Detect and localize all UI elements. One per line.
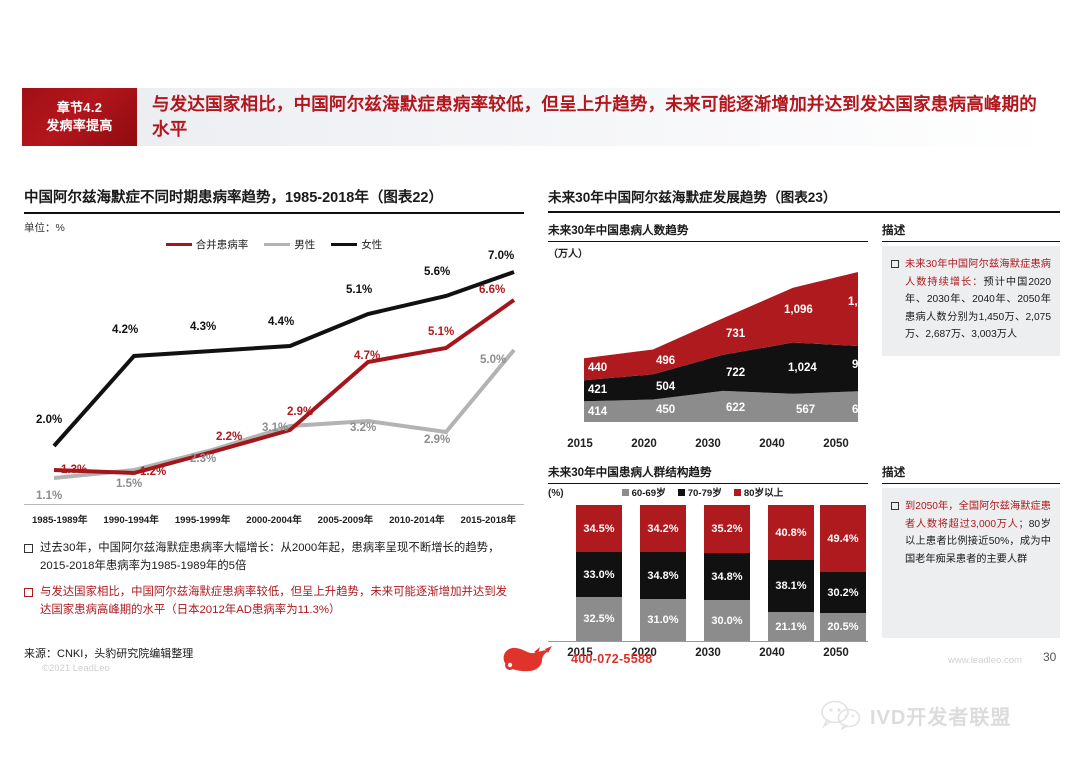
area-label-70-79-1: 504 xyxy=(656,381,675,393)
x-tick-4: 2005-2009年 xyxy=(310,512,381,526)
legend2-label-70-79: 70-79岁 xyxy=(688,485,722,499)
bar-seg-60-69-2015: 32.5% xyxy=(576,597,622,641)
bar-group-2030: 35.2% 34.8% 30.0% xyxy=(704,505,750,641)
bar-seg-70-79-2030: 34.8% xyxy=(704,553,750,600)
area-label-80plus-1: 496 xyxy=(656,355,675,367)
label-female-3: 4.4% xyxy=(268,316,294,328)
legend-label-male: 男性 xyxy=(294,237,315,252)
line-chart-x-axis: 1985-1989年 1990-1994年 1995-1999年 2000-20… xyxy=(24,504,524,526)
area-label-80plus-0: 440 xyxy=(588,362,607,374)
right-row-bottom: 未来30年中国患病人群结构趋势 (%) 60-69岁 70-79岁 xyxy=(548,464,1060,659)
stacked-bar-chart: 34.5% 33.0% 32.5% 34.2% 34.8% 31.0% 35.2… xyxy=(548,503,868,641)
bar-seg-60-69-2020: 31.0% xyxy=(640,599,686,641)
bar-group-2050: 49.4% 30.2% 20.5% xyxy=(820,505,866,641)
x-tick-3: 2000-2004年 xyxy=(238,512,309,526)
bullet-square-icon xyxy=(24,544,33,553)
legend-item-male: 男性 xyxy=(264,237,315,252)
line-chart-legend: 合并患病率 男性 女性 xyxy=(24,237,524,252)
area-label-70-79-3: 1,024 xyxy=(788,362,817,374)
watermark: IVD开发者联盟 xyxy=(820,700,1011,730)
area-chart-unit: （万人） xyxy=(548,245,868,260)
legend-swatch-female xyxy=(331,243,357,246)
description-box-1: 未来30年中国阿尔兹海默症患病人数持续增长：预计中国2020年、2030年、20… xyxy=(882,246,1060,356)
left-bullet-0: 过去30年，中国阿尔兹海默症患病率大幅增长：从2000年起，患病率呈现不断增长的… xyxy=(24,540,516,575)
slide-header: 章节4.2 发病率提高 与发达国家相比，中国阿尔兹海默症患病率较低，但呈上升趋势… xyxy=(22,88,1058,146)
bullet-square-icon xyxy=(891,260,899,268)
footer-website: www.leadleo.com xyxy=(948,655,1022,666)
bar-x-tick-2: 2030 xyxy=(676,647,740,659)
page-number: 30 xyxy=(1043,650,1056,664)
label-combined-5: 5.1% xyxy=(428,326,454,338)
area-label-60-69-3: 567 xyxy=(796,404,815,416)
label-female-6: 7.0% xyxy=(488,250,514,262)
footer-phone: 400-072-5588 xyxy=(571,652,652,666)
bar-x-tick-3: 2040 xyxy=(740,647,804,659)
left-chart-unit: 单位：% xyxy=(24,220,524,235)
copyright-text: ©2021 LeadLeo xyxy=(42,663,193,674)
x-tick-5: 2010-2014年 xyxy=(381,512,452,526)
description-heading-1: 描述 xyxy=(882,222,1060,242)
label-female-1: 4.2% xyxy=(112,324,138,336)
description-item-1: 未来30年中国阿尔兹海默症患病人数持续增长：预计中国2020年、2030年、20… xyxy=(891,256,1051,344)
watermark-text: IVD开发者联盟 xyxy=(870,701,1011,730)
page-title: 与发达国家相比，中国阿尔兹海默症患病率较低，但呈上升趋势，未来可能逐渐增加并达到… xyxy=(152,89,1054,145)
area-label-70-79-2: 722 xyxy=(726,367,745,379)
area-label-60-69-4: 614 xyxy=(852,404,871,416)
bar-group-2015: 34.5% 33.0% 32.5% xyxy=(576,505,622,641)
legend-item-female: 女性 xyxy=(331,237,382,252)
bar-seg-70-79-2040: 38.1% xyxy=(768,560,814,612)
legend-item-combined: 合并患病率 xyxy=(166,237,249,252)
label-male-6: 5.0% xyxy=(480,354,506,366)
wechat-icon xyxy=(820,700,862,730)
area-label-60-69-0: 414 xyxy=(588,406,607,418)
area-x-tick-2: 2030 xyxy=(676,438,740,450)
bar-chart-unit: (%) xyxy=(548,488,564,499)
line-chart: 2.0% 4.2% 4.3% 4.4% 5.1% 5.6% 7.0% 1.1% … xyxy=(24,254,524,504)
description-text-1: 未来30年中国阿尔兹海默症患病人数持续增长：预计中国2020年、2030年、20… xyxy=(905,256,1051,344)
label-female-4: 5.1% xyxy=(346,284,372,296)
bar-seg-60-69-2040: 21.1% xyxy=(768,612,814,641)
description-block-2: 描述 到2050年，全国阿尔兹海默症患者人数将超过3,000万人；80岁以上患者… xyxy=(882,464,1060,659)
bar-group-2040: 40.8% 38.1% 21.1% xyxy=(768,505,814,641)
area-x-tick-0: 2015 xyxy=(548,438,612,450)
bar-group-2020: 34.2% 34.8% 31.0% xyxy=(640,505,686,641)
label-female-0: 2.0% xyxy=(36,414,62,426)
bullet-square-icon xyxy=(891,502,899,510)
area-x-tick-4: 2050 xyxy=(804,438,868,450)
label-combined-4: 4.7% xyxy=(354,350,380,362)
legend2-swatch-70-79 xyxy=(678,489,685,496)
legend-label-combined: 合并患病率 xyxy=(196,237,249,252)
x-tick-1: 1990-1994年 xyxy=(95,512,166,526)
area-chart: 440 496 731 1,096 1,482 421 504 722 1,02… xyxy=(548,262,868,437)
bar-chart-legend: 60-69岁 70-79岁 80岁以上 xyxy=(622,485,784,499)
label-female-2: 4.3% xyxy=(190,321,216,333)
description-text-2: 到2050年，全国阿尔兹海默症患者人数将超过3,000万人；80岁以上患者比例接… xyxy=(905,498,1051,568)
area-label-60-69-1: 450 xyxy=(656,404,675,416)
area-label-60-69-2: 622 xyxy=(726,402,745,414)
area-chart-x-axis: 2015 2020 2030 2040 2050 xyxy=(548,438,868,450)
label-female-5: 5.6% xyxy=(424,266,450,278)
legend2-label-80-plus: 80岁以上 xyxy=(744,485,783,499)
legend2-swatch-60-69 xyxy=(622,489,629,496)
source-text: 来源：CNKI，头豹研究院编辑整理 xyxy=(24,648,193,660)
bar-x-tick-4: 2050 xyxy=(804,647,868,659)
left-bullet-0-text: 过去30年，中国阿尔兹海默症患病率大幅增长：从2000年起，患病率呈现不断增长的… xyxy=(40,540,516,575)
bar-seg-80plus-2040: 40.8% xyxy=(768,505,814,560)
bar-seg-70-79-2020: 34.8% xyxy=(640,552,686,599)
label-male-0: 1.1% xyxy=(36,490,62,502)
bar-seg-80plus-2020: 34.2% xyxy=(640,505,686,552)
left-bullet-1-text: 与发达国家相比，中国阿尔兹海默症患病率较低，但呈上升趋势，未来可能逐渐增加并达到… xyxy=(40,584,516,619)
bar-seg-60-69-2030: 30.0% xyxy=(704,600,750,641)
label-combined-2: 2.2% xyxy=(216,431,242,443)
legend2-label-60-69: 60-69岁 xyxy=(632,485,666,499)
line-chart-svg xyxy=(24,254,524,504)
area-label-70-79-0: 421 xyxy=(588,384,607,396)
right-row-top: 未来30年中国患病人数趋势 （万人） 440 496 731 xyxy=(548,222,1060,450)
legend-swatch-combined xyxy=(166,243,192,246)
label-male-4: 3.2% xyxy=(350,422,376,434)
legend-swatch-male xyxy=(264,243,290,246)
label-combined-3: 2.9% xyxy=(287,406,313,418)
right-panel: 未来30年中国阿尔兹海默症发展趋势（图表23） 未来30年中国患病人数趋势 （万… xyxy=(548,186,1060,659)
section-tag: 章节4.2 发病率提高 xyxy=(22,88,137,146)
label-male-3: 3.1% xyxy=(262,422,288,434)
legend2-item-80-plus: 80岁以上 xyxy=(734,485,783,499)
x-tick-2: 1995-1999年 xyxy=(167,512,238,526)
left-bullet-list: 过去30年，中国阿尔兹海默症患病率大幅增长：从2000年起，患病率呈现不断增长的… xyxy=(24,540,516,620)
description-box-2: 到2050年，全国阿尔兹海默症患者人数将超过3,000万人；80岁以上患者比例接… xyxy=(882,488,1060,638)
bar-seg-80plus-2015: 34.5% xyxy=(576,505,622,552)
description-heading-2: 描述 xyxy=(882,464,1060,484)
left-chart-title: 中国阿尔兹海默症不同时期患病率趋势，1985-2018年（图表22） xyxy=(24,186,524,214)
source-note: 来源：CNKI，头豹研究院编辑整理 ©2021 LeadLeo xyxy=(24,645,193,674)
area-chart-heading: 未来30年中国患病人数趋势 xyxy=(548,222,868,242)
label-combined-0: 1.3% xyxy=(61,464,87,476)
bar-seg-80plus-2050: 49.4% xyxy=(820,505,866,572)
bar-seg-60-69-2050: 20.5% xyxy=(820,613,866,641)
description-block-1: 描述 未来30年中国阿尔兹海默症患病人数持续增长：预计中国2020年、2030年… xyxy=(882,222,1060,450)
label-combined-6: 6.6% xyxy=(479,284,505,296)
label-combined-1: 1.2% xyxy=(140,466,166,478)
left-panel: 中国阿尔兹海默症不同时期患病率趋势，1985-2018年（图表22） 单位：% … xyxy=(24,186,524,629)
bar-chart-block: 未来30年中国患病人群结构趋势 (%) 60-69岁 70-79岁 xyxy=(548,464,868,659)
label-male-2: 2.3% xyxy=(190,453,216,465)
bar-seg-70-79-2015: 33.0% xyxy=(576,552,622,597)
area-x-tick-1: 2020 xyxy=(612,438,676,450)
area-label-80plus-3: 1,096 xyxy=(784,304,813,316)
bar-chart-heading: 未来30年中国患病人群结构趋势 xyxy=(548,464,868,484)
left-bullet-1: 与发达国家相比，中国阿尔兹海默症患病率较低，但呈上升趋势，未来可能逐渐增加并达到… xyxy=(24,584,516,619)
legend2-item-60-69: 60-69岁 xyxy=(622,485,666,499)
area-x-tick-3: 2040 xyxy=(740,438,804,450)
bar-seg-70-79-2050: 30.2% xyxy=(820,572,866,613)
legend2-swatch-80-plus xyxy=(734,489,741,496)
legend2-item-70-79: 70-79岁 xyxy=(678,485,722,499)
label-male-1: 1.5% xyxy=(116,478,142,490)
right-chart-title: 未来30年中国阿尔兹海默症发展趋势（图表23） xyxy=(548,186,1060,213)
label-male-5: 2.9% xyxy=(424,434,450,446)
slide-page: 章节4.2 发病率提高 与发达国家相比，中国阿尔兹海默症患病率较低，但呈上升趋势… xyxy=(0,0,1080,764)
leadleo-logo-icon xyxy=(498,643,562,677)
area-label-80plus-2: 731 xyxy=(726,328,745,340)
bar-seg-80plus-2030: 35.2% xyxy=(704,505,750,553)
legend-label-female: 女性 xyxy=(361,237,382,252)
description-item-2: 到2050年，全国阿尔兹海默症患者人数将超过3,000万人；80岁以上患者比例接… xyxy=(891,498,1051,568)
x-tick-0: 1985-1989年 xyxy=(24,512,95,526)
area-label-80plus-4: 1,482 xyxy=(848,296,877,308)
area-label-70-79-4: 907 xyxy=(852,359,871,371)
area-chart-block: 未来30年中国患病人数趋势 （万人） 440 496 731 xyxy=(548,222,868,450)
series-female-line xyxy=(54,272,514,446)
section-tag-line2: 发病率提高 xyxy=(46,117,113,135)
bullet-square-icon xyxy=(24,588,33,597)
x-tick-6: 2015-2018年 xyxy=(453,512,524,526)
section-tag-line1: 章节4.2 xyxy=(57,99,103,117)
